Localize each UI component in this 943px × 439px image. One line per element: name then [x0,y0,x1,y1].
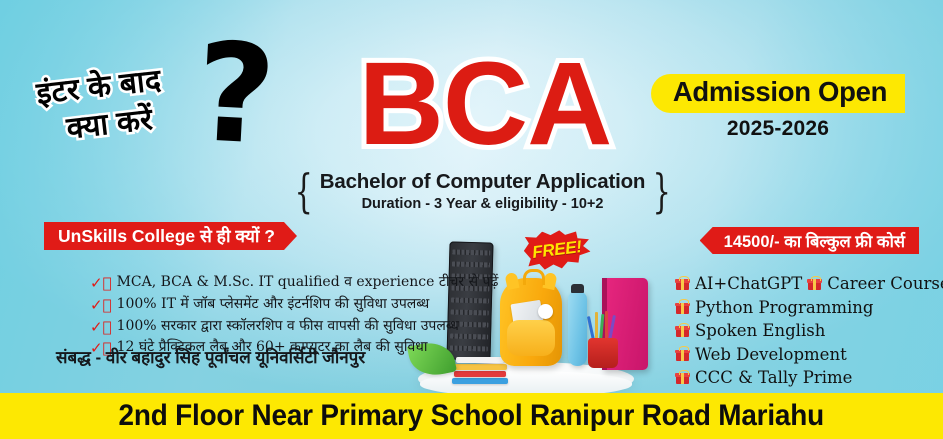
gift-box-icon [676,277,689,291]
list-item: AI+ChatGPT Career Course [676,274,943,293]
why-us-ribbon: UnSkills College से ही क्यों ? [44,222,297,250]
address-text: 2nd Floor Near Primary School Ranipur Ro… [119,399,824,433]
gift-box-icon [676,324,689,338]
list-item-label: Python Programming [695,298,873,317]
list-item-label: Spoken English [695,321,825,340]
brace-right-icon: } [653,173,671,210]
free-course-ribbon: 14500/- का बिल्कुल फ्री कोर्स [700,227,919,254]
address-footer: 2nd Floor Near Primary School Ranipur Ro… [0,393,943,439]
course-duration: Duration - 3 Year & eligibility - 10+2 [320,196,645,212]
admission-open-label: Admission Open [651,74,905,113]
list-item-label: Web Development [695,345,847,364]
admission-session-years: 2025-2026 [633,117,923,141]
list-item: ✓⃝ 100% IT में जॉब प्लेसमेंट और इंटर्नशि… [90,296,510,315]
list-item: Spoken English [676,321,943,340]
list-item: Web Development [676,345,943,364]
gift-box-icon [676,348,689,362]
brace-left-icon: { [294,173,312,210]
water-bottle-icon [568,292,587,366]
free-badge: FREE! [522,226,592,274]
university-affiliation: संबद्ध - वीर बहादुर सिंह पूर्वांचल यूनिव… [56,345,365,368]
admission-poster: इंटर के बाद क्या करें ? BCA { Bachelor o… [0,0,943,439]
headline-subtitle-block: { Bachelor of Computer Application Durat… [300,170,665,212]
free-badge-label: FREE! [522,226,592,274]
list-item: ✓⃝ MCA, BCA & M.Sc. IT qualified व exper… [90,274,510,293]
list-item-label: MCA, BCA & M.Sc. IT qualified व experien… [117,274,499,292]
list-item-label: AI+ChatGPT [695,274,802,293]
list-item: Python Programming [676,298,943,317]
course-full-name: Bachelor of Computer Application [320,170,645,194]
list-item: CCC & Tally Prime [676,368,943,387]
question-mark-icon: ? [193,40,277,150]
admission-badge: Admission Open 2025-2026 [633,74,923,141]
pencil-holder-icon [586,312,620,368]
gift-box-icon [676,301,689,315]
gift-box-icon [676,371,689,385]
check-circle-icon: ✓⃝ [90,274,112,293]
list-item-label: CCC & Tally Prime [695,368,852,387]
check-circle-icon: ✓⃝ [90,296,112,315]
list-item-label-secondary: Career Course [827,274,943,293]
list-item: ✓⃝ 100% सरकार द्वारा स्कॉलरशिप व फीस वाप… [90,318,510,337]
list-item-label: 100% सरकार द्वारा स्कॉलरशिप व फीस वापसी … [117,318,459,336]
gift-box-icon [808,277,821,291]
page-title: BCA [335,48,635,160]
list-item-label: 100% IT में जॉब प्लेसमेंट और इंटर्नशिप क… [117,296,430,314]
check-circle-icon: ✓⃝ [90,318,112,337]
